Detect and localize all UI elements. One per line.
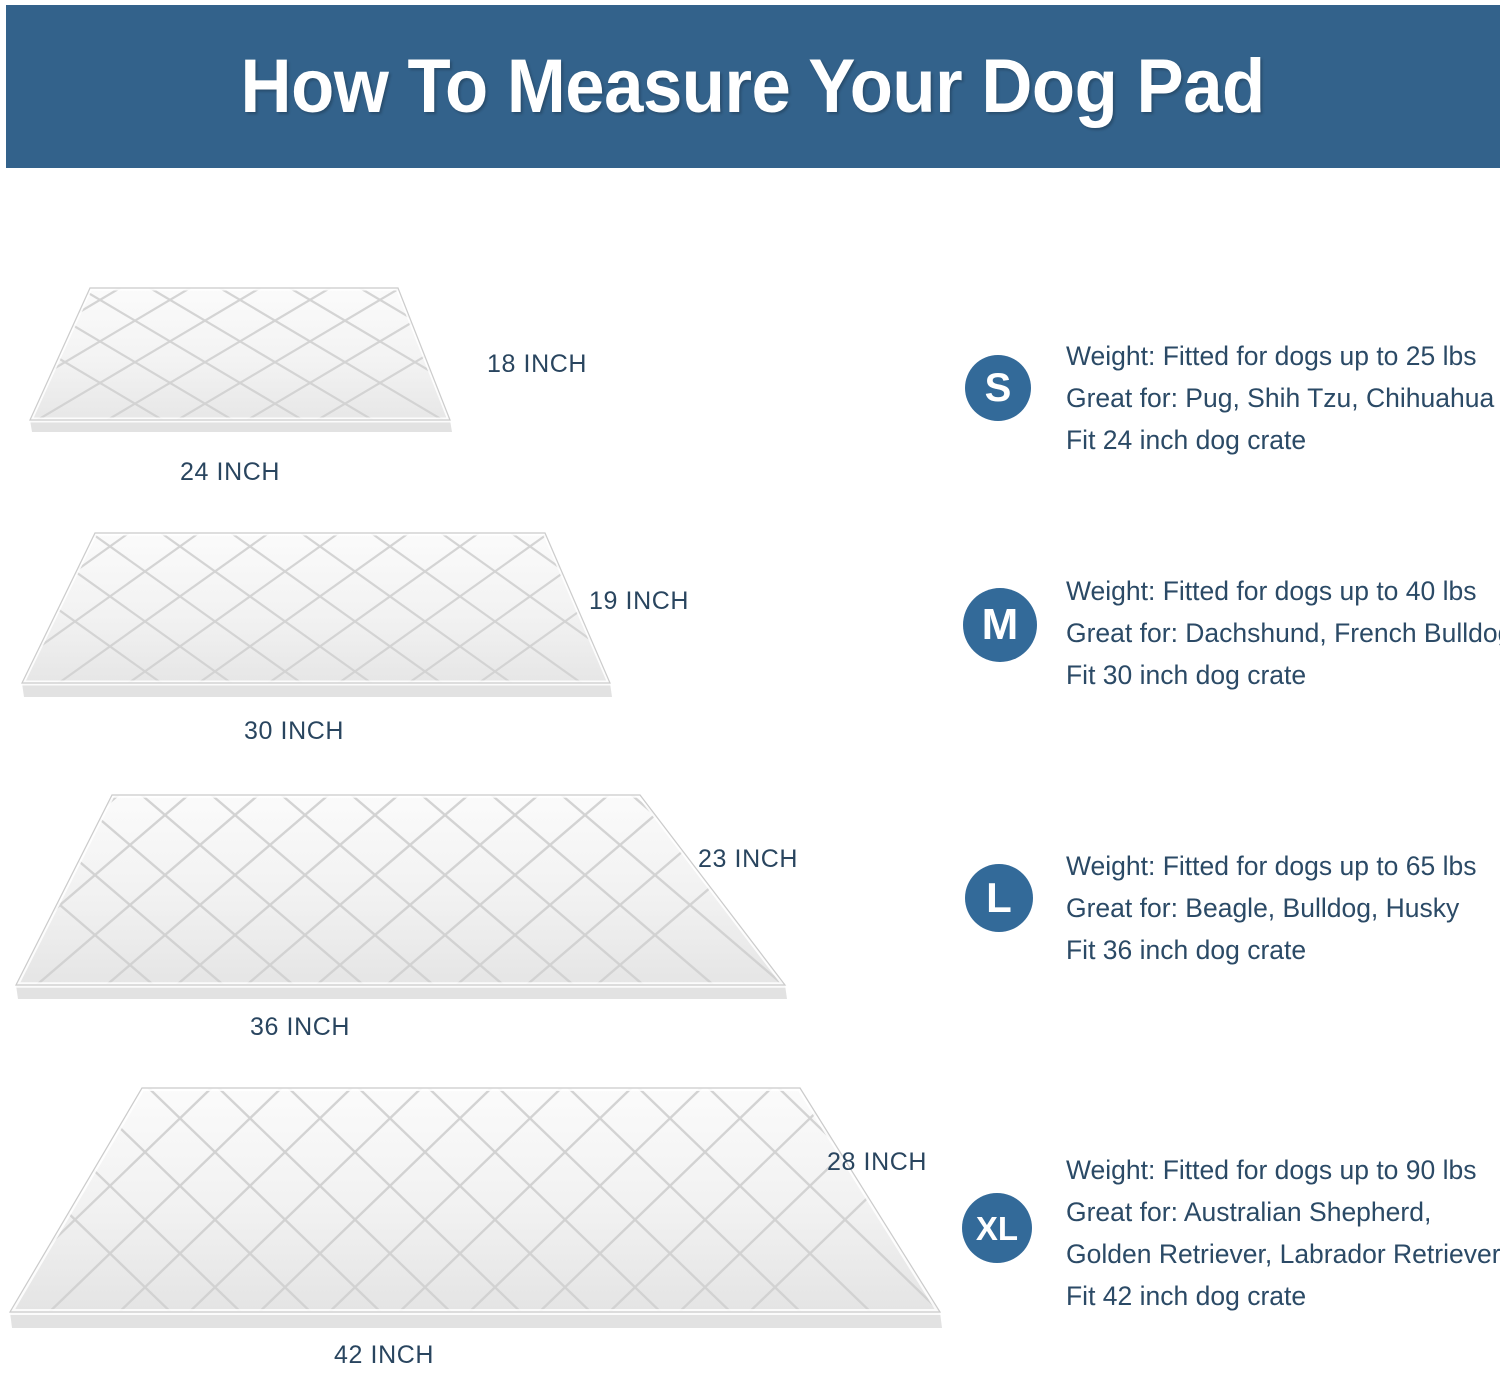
pad-width-label-s: 24 INCH xyxy=(180,458,280,487)
size-breeds-line-l: Great for: Beagle, Bulldog, Husky xyxy=(1066,887,1477,929)
size-breeds-line-s: Great for: Pug, Shih Tzu, Chihuahua xyxy=(1066,377,1494,419)
size-breeds-line2-xl: Golden Retriever, Labrador Retriever xyxy=(1066,1233,1500,1275)
dog-pad-illustration-xl xyxy=(0,1080,960,1342)
header-banner: How To Measure Your Dog Pad xyxy=(6,5,1500,168)
pad-row-xl: 28 INCH 42 INCH xyxy=(0,1080,960,1373)
pad-depth-label-l: 23 INCH xyxy=(698,845,798,874)
pad-width-label-l: 36 INCH xyxy=(250,1013,350,1042)
dog-pad-illustration-l xyxy=(0,785,820,1015)
size-crate-line-m: Fit 30 inch dog crate xyxy=(1066,654,1500,696)
size-details-xl: Weight: Fitted for dogs up to 90 lbs Gre… xyxy=(1066,1149,1500,1317)
pad-row-s: 18 INCH 24 INCH xyxy=(0,270,700,500)
size-crate-line-l: Fit 36 inch dog crate xyxy=(1066,929,1477,971)
size-weight-line-s: Weight: Fitted for dogs up to 25 lbs xyxy=(1066,335,1494,377)
size-badge-m: M xyxy=(963,588,1037,662)
size-details-s: Weight: Fitted for dogs up to 25 lbs Gre… xyxy=(1066,335,1494,461)
size-guide-block-l: L Weight: Fitted for dogs up to 65 lbs G… xyxy=(960,835,1490,975)
pad-row-m: 19 INCH 30 INCH xyxy=(0,515,800,765)
pad-row-l: 23 INCH 36 INCH xyxy=(0,785,900,1065)
pad-width-label-m: 30 INCH xyxy=(244,717,344,746)
pad-depth-label-xl: 28 INCH xyxy=(827,1148,927,1177)
size-crate-line-s: Fit 24 inch dog crate xyxy=(1066,419,1494,461)
size-breeds-line-m: Great for: Dachshund, French Bulldog xyxy=(1066,612,1500,654)
size-breeds-line1-xl: Great for: Australian Shepherd, xyxy=(1066,1191,1500,1233)
size-badge-s: S xyxy=(965,355,1031,421)
page-title: How To Measure Your Dog Pad xyxy=(241,43,1265,130)
size-guide-block-s: S Weight: Fitted for dogs up to 25 lbs G… xyxy=(960,330,1490,470)
dog-pad-illustration-m xyxy=(0,515,640,715)
pad-depth-label-s: 18 INCH xyxy=(487,350,587,379)
size-guide-block-xl: XL Weight: Fitted for dogs up to 90 lbs … xyxy=(960,1140,1490,1330)
size-weight-line-m: Weight: Fitted for dogs up to 40 lbs xyxy=(1066,570,1500,612)
size-badge-xl: XL xyxy=(962,1193,1032,1263)
pad-depth-label-m: 19 INCH xyxy=(589,587,689,616)
pad-width-label-xl: 42 INCH xyxy=(334,1341,434,1370)
size-weight-line-xl: Weight: Fitted for dogs up to 90 lbs xyxy=(1066,1149,1500,1191)
size-badge-l: L xyxy=(965,864,1033,932)
size-weight-line-l: Weight: Fitted for dogs up to 65 lbs xyxy=(1066,845,1477,887)
size-crate-line-xl: Fit 42 inch dog crate xyxy=(1066,1275,1500,1317)
size-guide-block-m: M Weight: Fitted for dogs up to 40 lbs G… xyxy=(960,548,1490,688)
dog-pad-illustration-s xyxy=(0,270,480,450)
size-details-m: Weight: Fitted for dogs up to 40 lbs Gre… xyxy=(1066,570,1500,696)
size-details-l: Weight: Fitted for dogs up to 65 lbs Gre… xyxy=(1066,845,1477,971)
